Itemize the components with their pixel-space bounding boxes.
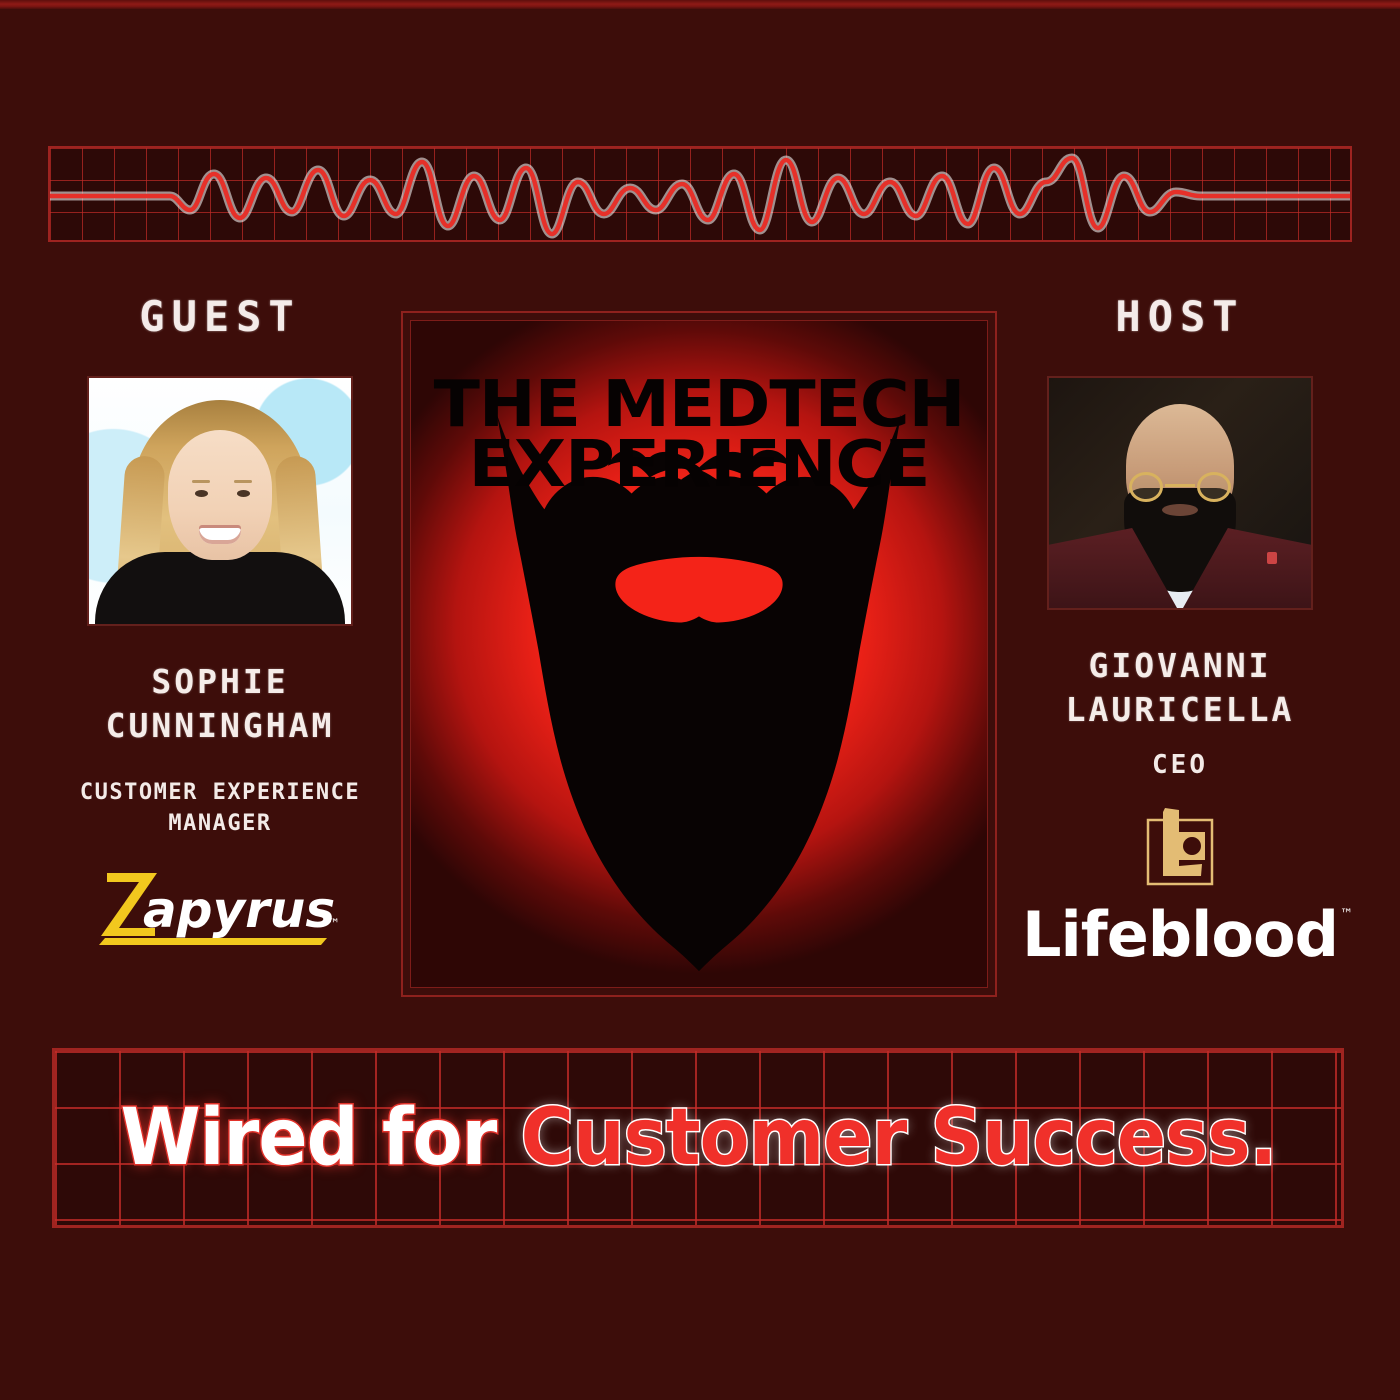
lifeblood-word-text: Lifeblood — [1022, 898, 1338, 971]
host-role-label: HOST — [1115, 296, 1244, 338]
top-accent-strip — [0, 0, 1400, 9]
podcast-cover-art-frame: THE MEDTECH EXPERIENCE — [401, 311, 997, 997]
tagline: Wired for Customer Success. — [120, 1099, 1276, 1177]
lifeblood-trademark-icon: ™ — [1340, 908, 1352, 921]
ecg-waveform-panel — [48, 146, 1352, 242]
svg-text:™: ™ — [327, 917, 340, 932]
episode-card: GUEST SOPHIE CUNNINGHAM CUSTOMER EXPERIE… — [0, 0, 1400, 1400]
tagline-part-white: Wired for — [120, 1093, 520, 1183]
host-photo — [1047, 376, 1313, 610]
host-title: CEO — [1152, 747, 1208, 784]
guest-title-line1: CUSTOMER EXPERIENCE — [80, 780, 360, 805]
guest-name-last: CUNNINGHAM — [106, 706, 335, 745]
guest-photo — [87, 376, 353, 626]
ecg-waveform-icon — [50, 148, 1350, 240]
guest-column: GUEST SOPHIE CUNNINGHAM CUSTOMER EXPERIE… — [52, 296, 388, 946]
lifeblood-logo: Lifeblood ™ — [1022, 806, 1338, 966]
zapyrus-wordmark-icon: apyrus ™ — [95, 872, 345, 946]
host-name-first: GIOVANNI — [1089, 646, 1272, 685]
guest-name-first: SOPHIE — [151, 662, 288, 701]
guest-role-label: GUEST — [139, 296, 300, 338]
glasses-icon — [1128, 472, 1232, 502]
guest-title: CUSTOMER EXPERIENCE MANAGER — [80, 777, 360, 839]
podcast-title: THE MEDTECH EXPERIENCE — [410, 375, 988, 495]
host-column: HOST GIOVANNI LAURICELLA CEO — [1012, 296, 1348, 966]
svg-text:apyrus: apyrus — [143, 881, 335, 939]
lifeblood-wordmark: Lifeblood ™ — [1022, 904, 1338, 966]
host-name-last: LAURICELLA — [1066, 690, 1295, 729]
podcast-cover-art: THE MEDTECH EXPERIENCE — [410, 320, 988, 988]
podcast-title-line2: EXPERIENCE — [410, 435, 988, 495]
tagline-banner: Wired for Customer Success. — [52, 1048, 1344, 1228]
lifeblood-monogram-icon — [1139, 806, 1221, 892]
tagline-part-red: Customer Success. — [520, 1093, 1276, 1183]
guest-title-line2: MANAGER — [168, 811, 271, 836]
host-portrait-illustration — [1049, 378, 1311, 608]
guest-name: SOPHIE CUNNINGHAM — [106, 660, 335, 747]
zapyrus-logo: apyrus ™ — [95, 872, 345, 946]
guest-portrait-illustration — [89, 378, 351, 624]
host-name: GIOVANNI LAURICELLA — [1066, 644, 1295, 731]
